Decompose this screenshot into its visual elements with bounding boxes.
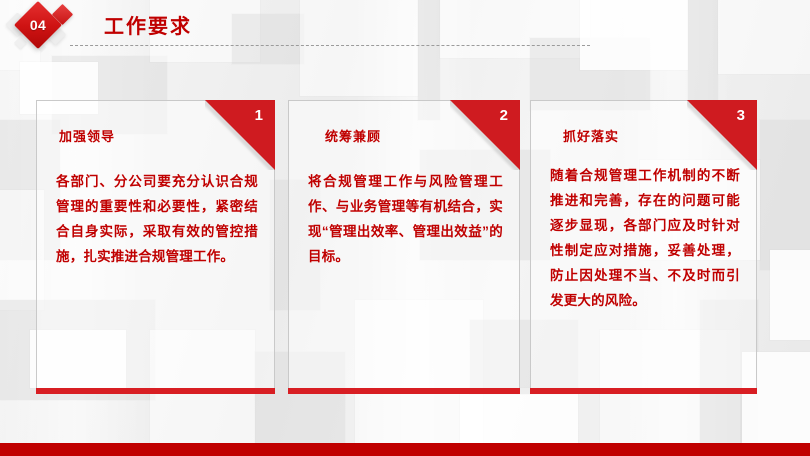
card-body-2: 将合规管理工作与风险管理工作、与业务管理等有机结合，实现“管理出效率、管理出效益… — [308, 169, 503, 269]
slide-canvas: 04 工作要求 1 加强领导 各部门、分公司要充分认识合规管理的重要性和必要性，… — [0, 0, 810, 456]
content-card-3[interactable]: 3 抓好落实 随着合规管理工作机制的不断推进和完善，存在的问题可能逐步显现，各部… — [530, 100, 757, 390]
content-card-2[interactable]: 2 统筹兼顾 将合规管理工作与风险管理工作、与业务管理等有机结合，实现“管理出效… — [288, 100, 520, 390]
card-corner-ribbon-1 — [205, 100, 275, 170]
card-number-3: 3 — [737, 107, 745, 125]
card-number-2: 2 — [500, 107, 508, 125]
card-title-2: 统筹兼顾 — [325, 128, 381, 146]
card-accent-bar-1 — [36, 388, 275, 394]
footer-accent-bar — [0, 443, 810, 456]
card-title-3: 抓好落实 — [563, 128, 619, 146]
card-body-1: 各部门、分公司要充分认识合规管理的重要性和必要性，紧密结合自身实际，采取有效的管… — [56, 169, 258, 269]
card-accent-bar-2 — [288, 388, 520, 394]
card-body-3: 随着合规管理工作机制的不断推进和完善，存在的问题可能逐步显现，各部门应及时针对性… — [550, 163, 740, 313]
slide-header: 04 工作要求 — [0, 0, 810, 70]
header-divider — [70, 45, 590, 46]
content-card-1[interactable]: 1 加强领导 各部门、分公司要充分认识合规管理的重要性和必要性，紧密结合自身实际… — [36, 100, 275, 390]
card-corner-ribbon-3 — [687, 100, 757, 170]
card-corner-ribbon-2 — [450, 100, 520, 170]
card-number-1: 1 — [255, 107, 263, 125]
card-title-1: 加强领导 — [59, 128, 115, 146]
card-accent-bar-3 — [530, 388, 757, 394]
page-title: 工作要求 — [104, 14, 192, 40]
section-number: 04 — [21, 8, 55, 42]
